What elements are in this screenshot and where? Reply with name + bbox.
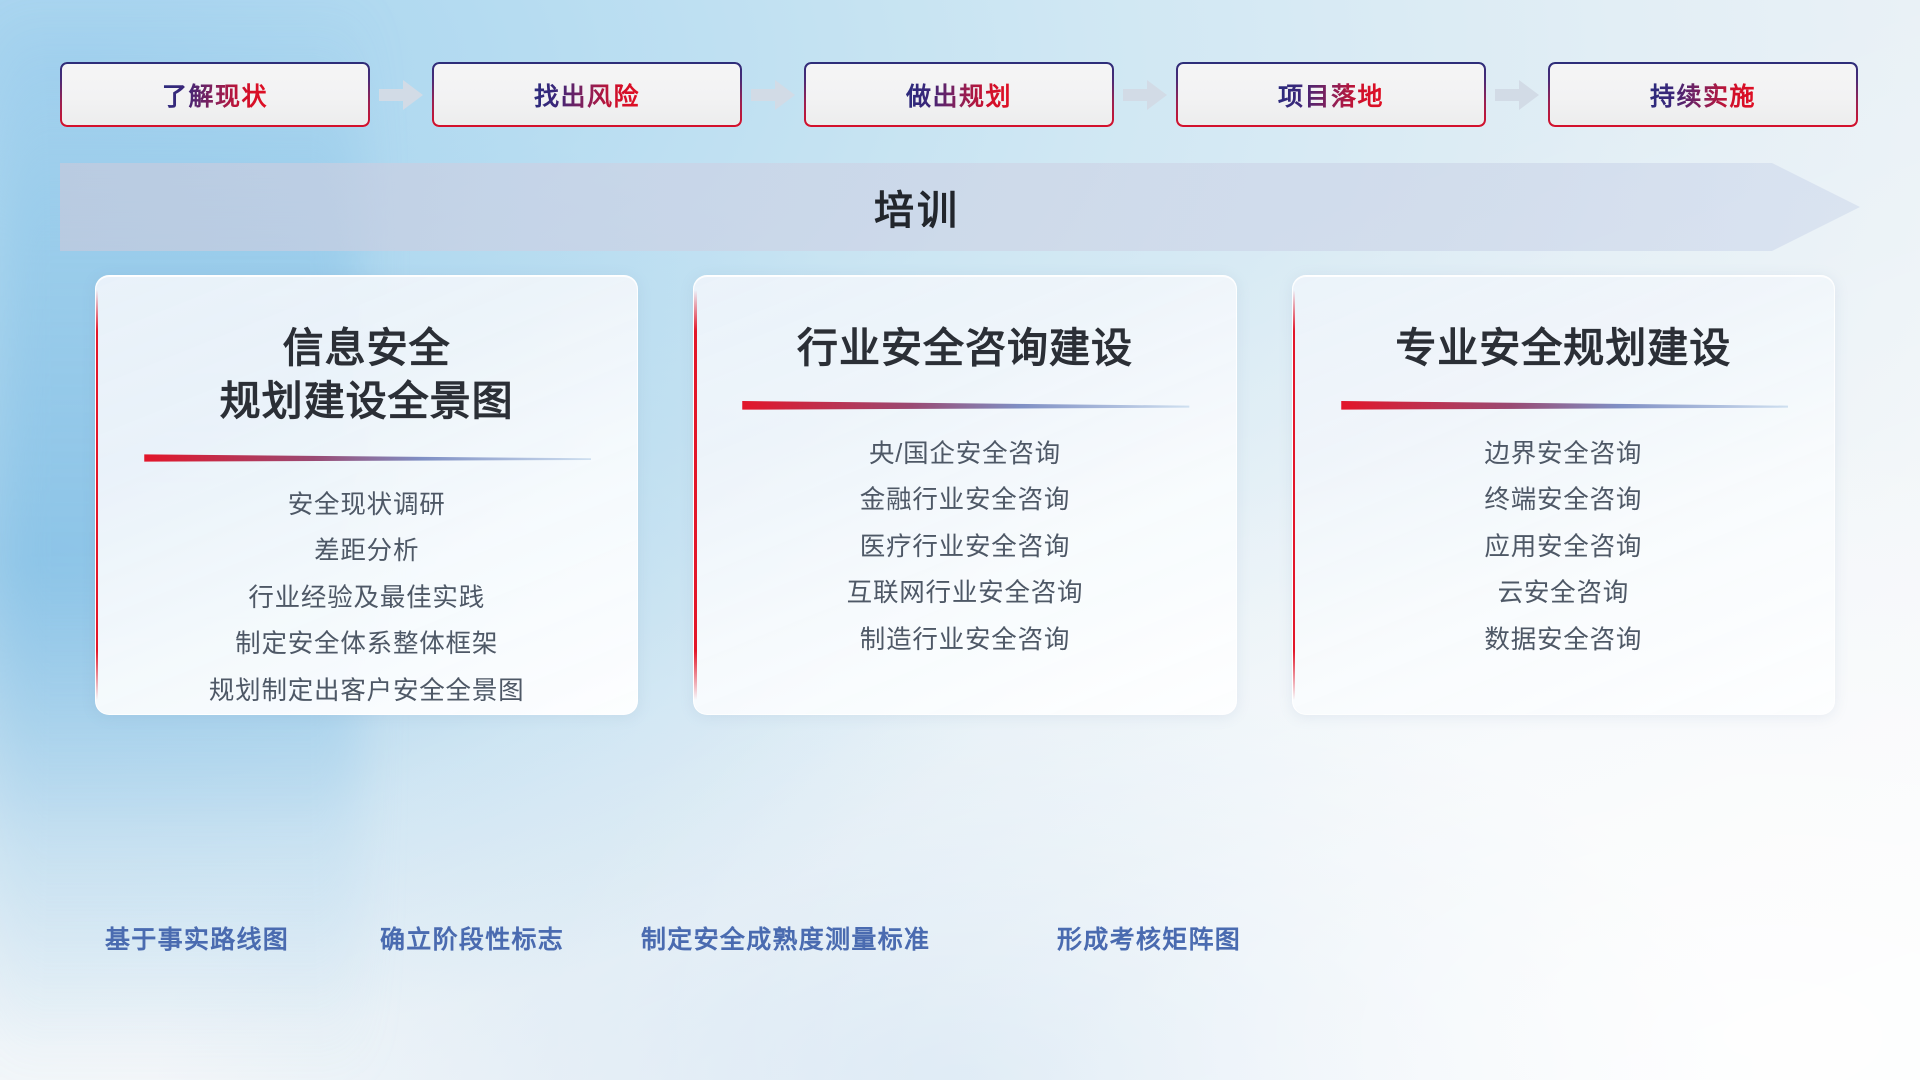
process-step-label: 持续实施 — [1650, 77, 1756, 113]
card-gradient-divider — [740, 397, 1189, 413]
process-step-3[interactable]: 做出规划 — [804, 62, 1114, 127]
card-list-item[interactable]: 医疗行业安全咨询 — [722, 524, 1207, 571]
card-list-item[interactable]: 制造行业安全咨询 — [722, 617, 1207, 664]
process-step-label: 找出风险 — [534, 77, 640, 113]
process-step-label: 了解现状 — [162, 77, 268, 113]
process-arrow-icon — [1486, 75, 1548, 115]
training-banner: 培训 — [60, 163, 1860, 251]
card-item-list: 安全现状调研差距分析行业经验及最佳实践制定安全体系整体框架规划制定出客户安全全景… — [124, 482, 609, 715]
card-list-item[interactable]: 行业经验及最佳实践 — [124, 575, 609, 622]
card-list-item[interactable]: 终端安全咨询 — [1321, 478, 1806, 525]
card-list-item[interactable]: 互联网行业安全咨询 — [722, 571, 1207, 618]
footer-label-4: 形成考核矩阵图 — [1057, 920, 1241, 956]
process-arrow-icon — [1114, 75, 1176, 115]
card-list-item[interactable]: 制定安全体系整体框架 — [124, 622, 609, 669]
card-title: 专业安全规划建设 — [1395, 322, 1731, 375]
card-gradient-divider — [142, 451, 591, 464]
card-left-accent-bar — [694, 290, 696, 700]
card-left-accent-bar — [96, 290, 98, 700]
card-list-item[interactable]: 边界安全咨询 — [1321, 431, 1806, 478]
card-list-item[interactable]: 安全现状调研 — [124, 482, 609, 529]
card-list-item[interactable]: 应用安全咨询 — [1321, 524, 1806, 571]
process-step-2[interactable]: 找出风险 — [432, 62, 742, 127]
service-card-2[interactable]: 行业安全咨询建设央/国企安全咨询金融行业安全咨询医疗行业安全咨询互联网行业安全咨… — [693, 275, 1236, 715]
card-gradient-divider — [1339, 397, 1788, 413]
process-arrow-icon — [370, 75, 432, 115]
footer-label-1: 基于事实路线图 — [105, 920, 289, 956]
process-step-label: 项目落地 — [1278, 77, 1384, 113]
service-card-1[interactable]: 信息安全 规划建设全景图安全现状调研差距分析行业经验及最佳实践制定安全体系整体框… — [95, 275, 638, 715]
card-item-list: 央/国企安全咨询金融行业安全咨询医疗行业安全咨询互联网行业安全咨询制造行业安全咨… — [722, 431, 1207, 664]
card-row: 信息安全 规划建设全景图安全现状调研差距分析行业经验及最佳实践制定安全体系整体框… — [95, 275, 1835, 715]
card-list-item[interactable]: 金融行业安全咨询 — [722, 478, 1207, 525]
card-item-list: 边界安全咨询终端安全咨询应用安全咨询云安全咨询数据安全咨询 — [1321, 431, 1806, 664]
service-card-3[interactable]: 专业安全规划建设边界安全咨询终端安全咨询应用安全咨询云安全咨询数据安全咨询 — [1292, 275, 1835, 715]
process-step-1[interactable]: 了解现状 — [60, 62, 370, 127]
footer-label-2: 确立阶段性标志 — [380, 920, 564, 956]
footer-label-3: 制定安全成熟度测量标准 — [641, 920, 930, 956]
process-step-label: 做出规划 — [906, 77, 1012, 113]
card-list-item[interactable]: 差距分析 — [124, 529, 609, 576]
banner-title: 培训 — [60, 163, 1860, 251]
card-list-item[interactable]: 央/国企安全咨询 — [722, 431, 1207, 478]
process-step-5[interactable]: 持续实施 — [1548, 62, 1858, 127]
process-arrow-icon — [742, 75, 804, 115]
card-left-accent-bar — [1293, 290, 1295, 700]
process-step-4[interactable]: 项目落地 — [1176, 62, 1486, 127]
card-list-item[interactable]: 云安全咨询 — [1321, 571, 1806, 618]
footer-label-row: 基于事实路线图确立阶段性标志制定安全成熟度测量标准形成考核矩阵图 — [0, 920, 1920, 968]
card-list-item[interactable]: 数据安全咨询 — [1321, 617, 1806, 664]
card-title: 信息安全 规划建设全景图 — [220, 322, 514, 429]
card-list-item[interactable]: 规划制定出客户安全全景图 — [124, 668, 609, 715]
process-step-row: 了解现状找出风险做出规划项目落地持续实施 — [60, 62, 1860, 127]
card-title: 行业安全咨询建设 — [797, 322, 1133, 375]
